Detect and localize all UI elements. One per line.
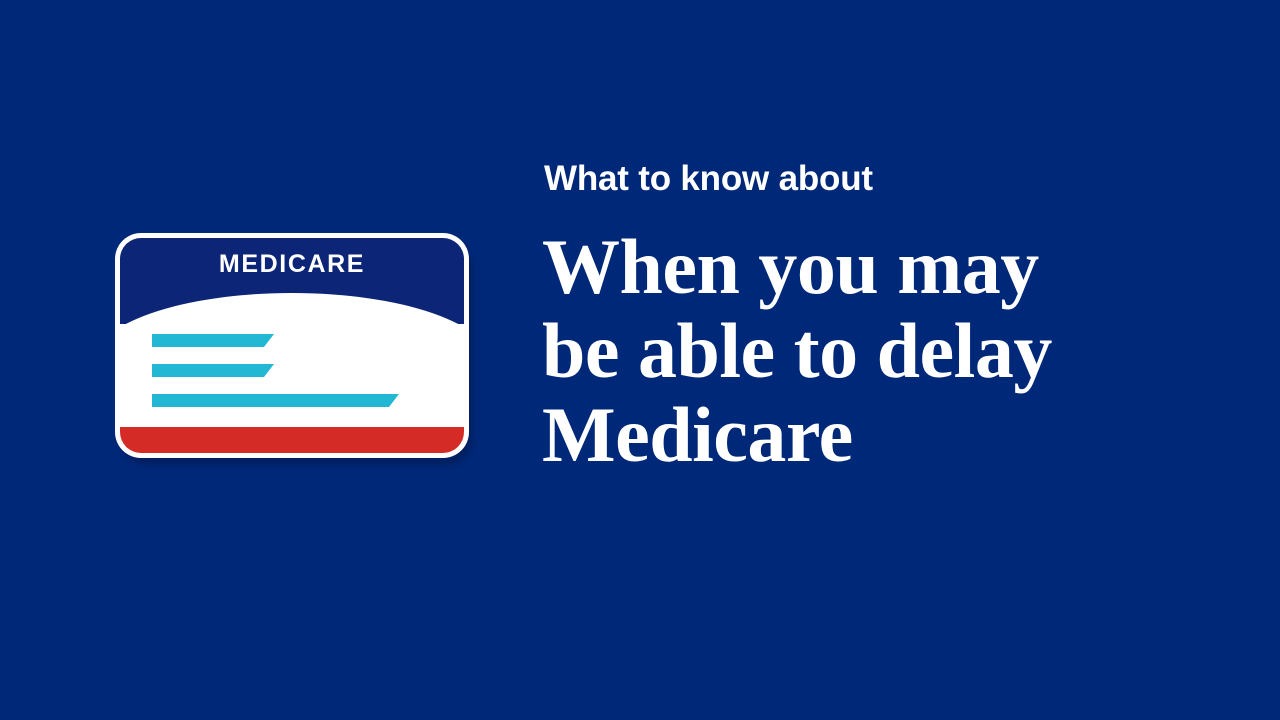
- card-line-3: [152, 394, 399, 407]
- headline-line-2: be able to delay: [542, 309, 1242, 393]
- medicare-card-illustration: MEDICARE: [115, 233, 475, 465]
- page-title: When you may be able to delay Medicare: [542, 225, 1242, 478]
- headline-line-3: Medicare: [542, 393, 1242, 477]
- card-outline: MEDICARE: [115, 233, 469, 458]
- card-title-medicare: MEDICARE: [120, 252, 464, 277]
- headline-line-1: When you may: [542, 225, 1242, 309]
- card-line-1: [152, 334, 274, 347]
- card-line-2: [152, 364, 274, 377]
- eyebrow-text: What to know about: [544, 160, 1242, 199]
- card-text-lines: [152, 334, 442, 407]
- card-footer-band: [120, 427, 464, 453]
- card-body: MEDICARE: [120, 238, 464, 453]
- text-block: What to know about When you may be able …: [542, 160, 1242, 477]
- title-slide: MEDICARE What to know about When you may…: [0, 0, 1280, 720]
